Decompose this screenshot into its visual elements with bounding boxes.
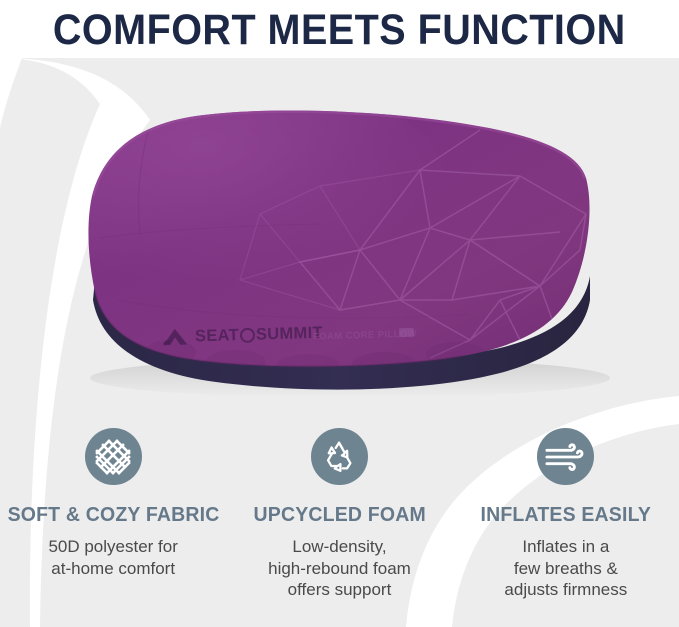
feature-description-line: Low-density, bbox=[268, 536, 411, 558]
headline-banner: COMFORT MEETS FUNCTION bbox=[0, 2, 679, 58]
feature-title: INFLATES EASILY bbox=[481, 503, 652, 527]
feature-soft-cozy-fabric: SOFT & COZY FABRIC 50D polyester for at-… bbox=[0, 424, 226, 627]
product-feature-graphic: COMFORT MEETS FUNCTION bbox=[0, 0, 679, 627]
feature-description: Inflates in a few breaths & adjusts firm… bbox=[504, 536, 627, 601]
feature-description-line: adjusts firmness bbox=[504, 579, 627, 601]
product-badge-icon bbox=[399, 328, 414, 337]
feature-description: Low-density, high-rebound foam offers su… bbox=[268, 536, 411, 601]
feature-description: 50D polyester for at-home comfort bbox=[48, 536, 177, 579]
feature-title: UPCYCLED FOAM bbox=[253, 503, 425, 527]
page-title: COMFORT MEETS FUNCTION bbox=[53, 7, 626, 53]
feature-list: SOFT & COZY FABRIC 50D polyester for at-… bbox=[0, 424, 679, 627]
feature-description-line: high-rebound foam bbox=[268, 558, 411, 580]
feature-inflates-easily: INFLATES EASILY Inflates in a few breath… bbox=[453, 424, 679, 627]
brand-name: SEAT SUMMIT bbox=[195, 324, 323, 347]
recycle-icon bbox=[311, 428, 368, 485]
wind-icon bbox=[537, 428, 594, 485]
feature-title: SOFT & COZY FABRIC bbox=[7, 503, 219, 527]
feature-description-line: offers support bbox=[268, 579, 411, 601]
mountain-logo-icon bbox=[162, 328, 189, 348]
feature-description-line: Inflates in a bbox=[504, 536, 627, 558]
feature-upcycled-foam: UPCYCLED FOAM Low-density, high-rebound … bbox=[226, 424, 452, 627]
feature-description-line: at-home comfort bbox=[48, 558, 177, 580]
brand-text-part1: SEAT bbox=[195, 326, 239, 346]
woven-fabric-icon bbox=[85, 428, 142, 485]
feature-description-line: 50D polyester for bbox=[48, 536, 177, 558]
feature-description-line: few breaths & bbox=[504, 558, 627, 580]
product-image bbox=[0, 0, 679, 420]
brand-o-icon bbox=[240, 328, 255, 343]
